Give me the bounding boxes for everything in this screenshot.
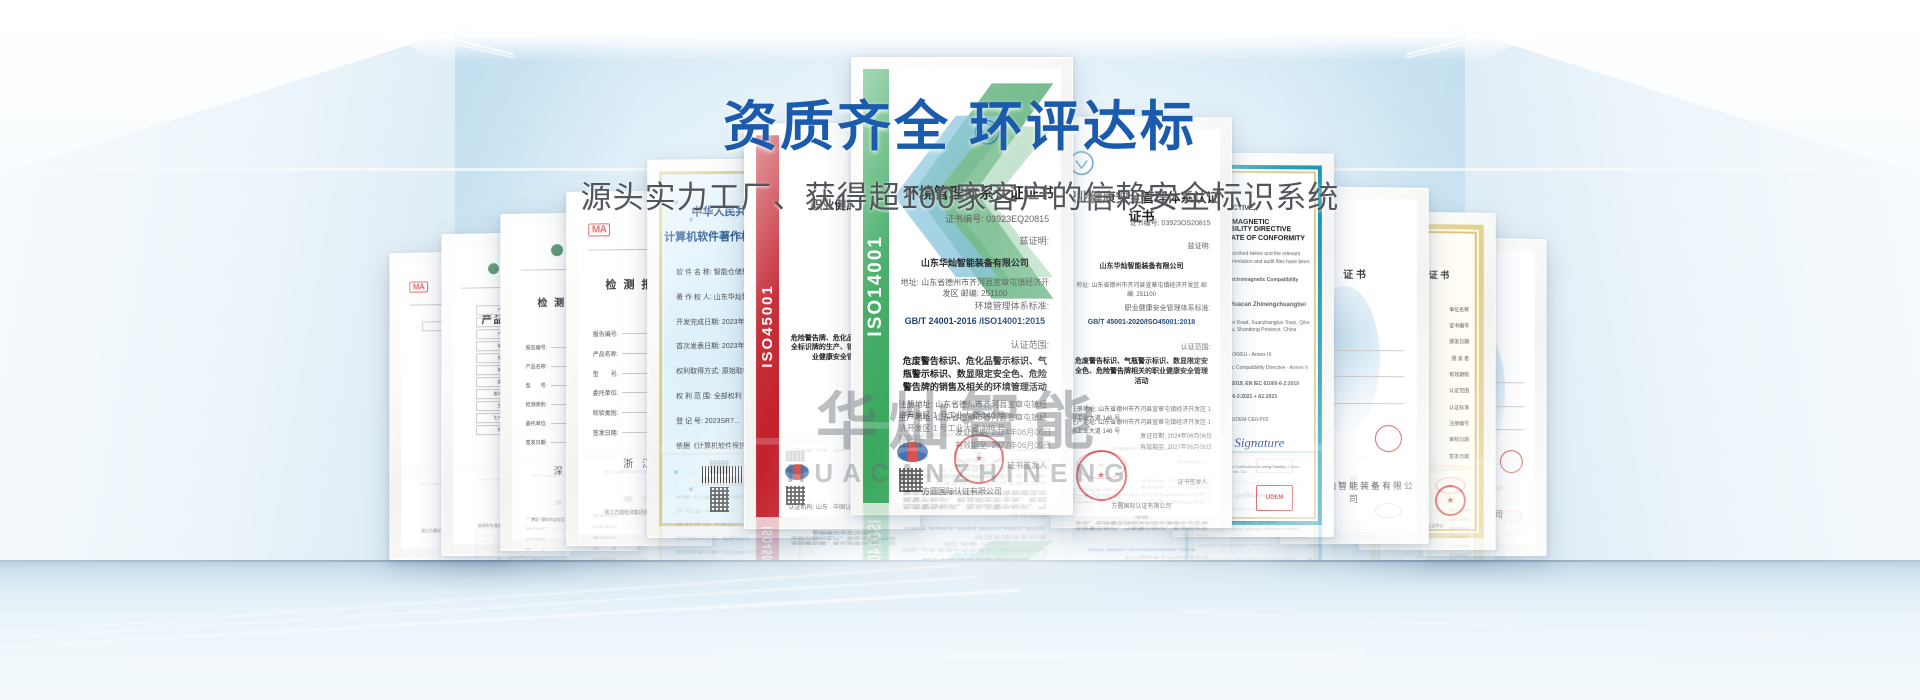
cert-field: 产品名称: — [593, 557, 619, 560]
cert-field: 审核日期 — [1449, 436, 1469, 443]
company-address: 地址: 山东省德州市齐河县宣章屯镇经济开发区 邮编: 251100 — [901, 541, 1050, 553]
official-red-seal: ★ — [1435, 485, 1466, 516]
page-title: 资质齐全 环评达标 — [0, 96, 1920, 160]
cert-field: 认证范围 — [1449, 387, 1469, 394]
banner-heading: 资质齐全 环评达标 源头实力工厂、获得超100家客户的信赖安全标识系统 — [0, 96, 1920, 217]
cnas-accreditation-logo — [897, 442, 928, 462]
official-red-seal: ★ — [1076, 450, 1127, 501]
company-address: 地址: 山东省德州市齐河县宣章屯镇经济开发区 邮编: 251100 — [901, 277, 1050, 299]
standard-code: GB/T 45001-2020/ISO45001:2018 — [1072, 547, 1210, 551]
udem-logo: UDEM — [1256, 485, 1293, 511]
cert-field: 颁发日期 — [1449, 338, 1469, 345]
cert-field: 首次发表日期: 2023年06月 — [676, 549, 759, 555]
cert-field: 认证标准 — [1449, 404, 1469, 411]
cert-field: 权利取得方式: 原始取得 — [676, 366, 750, 376]
cert-field: 签发日期 — [1449, 453, 1469, 460]
issuing-body: 方圆国际认证有限公司 — [1063, 501, 1220, 510]
company-name: 山东华灿智能装备有限公司 — [1072, 260, 1210, 270]
company-name: 山东华灿智能装备有限公司 — [901, 557, 1050, 560]
cnas-mark-icon — [488, 263, 499, 274]
cert-field: 检验类别: — [593, 408, 619, 417]
cert-field: 编号: — [1307, 557, 1321, 560]
cnas-mark-icon — [551, 244, 563, 256]
standard-code: GB/T 24001-2016 /ISO14001:2015 — [901, 526, 1050, 532]
field-rule — [1462, 559, 1524, 560]
iso-code: ISO14001 — [865, 235, 887, 337]
signer-label: 证书签发人 — [1177, 477, 1207, 486]
cert-field: 报告编号: — [593, 329, 619, 338]
cert-scope: 危废警告标识、气瓶警示标识、数显限定安全色、危险警告牌相关的职业健康安全管理活动 — [1072, 357, 1210, 387]
field-rule — [1325, 376, 1405, 377]
standard-code: GB/T 24001-2016 /ISO14001:2015 — [901, 316, 1050, 326]
cert-field: 登 记 号: 2023SR7... — [676, 416, 740, 426]
cert-field: 编号: — [1447, 558, 1458, 560]
cnas-accreditation-logo — [785, 464, 809, 480]
expiry-date: 有效期至: 2027年06月05日 — [1140, 442, 1212, 451]
certificate-banner: 资质齐全 环评达标 源头实力工厂、获得超100家客户的信赖安全标识系统 MA 浙… — [0, 0, 1920, 700]
standard-label: 职业健康安全管理体系标准: — [1125, 303, 1211, 313]
field-rule — [1325, 349, 1405, 351]
ce-address: No. 146 Gongye Road, Xuanzhangtun Town, … — [1199, 556, 1311, 560]
iso-code: ISO45001 — [759, 284, 776, 368]
page-subtitle: 源头实力工厂、获得超100家客户的信赖安全标识系统 — [0, 172, 1920, 217]
company-label: 兹证明: — [1020, 234, 1050, 247]
scope-label: 认证范围: — [1181, 342, 1211, 352]
standard-label: 环境管理体系标准: — [975, 534, 1050, 541]
ma-mark-icon: MA — [588, 223, 610, 236]
field-rule — [622, 559, 688, 560]
cert-field: 单位名称 — [1449, 306, 1469, 313]
field-rule — [551, 559, 614, 560]
standard-label: 环境管理体系标准: — [975, 299, 1050, 312]
cert-field: 检测类别: — [526, 401, 547, 408]
standard-label: 职业健康安全管理体系标准: — [1125, 554, 1211, 560]
cert-scope: 危废警告标识、危化品警示标识、气瓶警示标识、数显限定安全色、危险警告牌的销售及相… — [901, 355, 1050, 393]
field-rule — [1325, 403, 1405, 404]
issue-date: 发证日期: 2024年06月06日 — [1140, 431, 1212, 440]
cert-field: 注册编号 — [1449, 420, 1469, 427]
ornament-bottom-left — [665, 455, 702, 512]
cert-field: 颁 发 者 — [1451, 355, 1469, 362]
cert-field: 产品名称: — [526, 363, 547, 370]
official-red-seal: ★ — [954, 434, 1004, 484]
cert-field: 产品名称: — [593, 349, 619, 358]
cert-field: 签发日期: — [593, 428, 619, 437]
cert-field: 委托单位: — [593, 388, 619, 397]
scope-label: 认证范围: — [1011, 338, 1050, 351]
company-name: 山东华灿智能装备有限公司 — [901, 256, 1050, 269]
cert-field: 型 号: — [526, 382, 547, 389]
field-rule — [1325, 559, 1405, 560]
signature: Signature — [1234, 435, 1284, 451]
signer-label: 证书签发人 — [1007, 460, 1047, 471]
company-label: 兹证明: — [1188, 241, 1211, 251]
cert-field: 产品名称: — [526, 558, 547, 560]
cert-field: 签发日期: — [526, 439, 547, 446]
cert-field: 权 利 范 围: 全部权利 — [676, 391, 742, 401]
cert-field: 报告编号: — [526, 345, 547, 352]
issuing-body: 方圆国际认证有限公司 — [863, 486, 1061, 497]
ma-mark-icon: MA — [409, 281, 428, 292]
official-red-seal — [1500, 450, 1523, 473]
cert-number: 证书编号: 03923OS20815 — [1072, 218, 1210, 228]
standard-code: GB/T 45001-2020/ISO45001:2018 — [1072, 318, 1210, 325]
company-address: 地址: 山东省德州市齐河县宣章屯镇经济开发区 邮编: 251100 — [1072, 280, 1210, 298]
cert-field: 型 号: — [593, 369, 619, 378]
cert-field: 委托单位: — [526, 420, 547, 427]
qr-code — [710, 487, 728, 512]
cert-field: 有效期限 — [1449, 371, 1469, 378]
cert-field: 证书编号 — [1449, 322, 1469, 329]
